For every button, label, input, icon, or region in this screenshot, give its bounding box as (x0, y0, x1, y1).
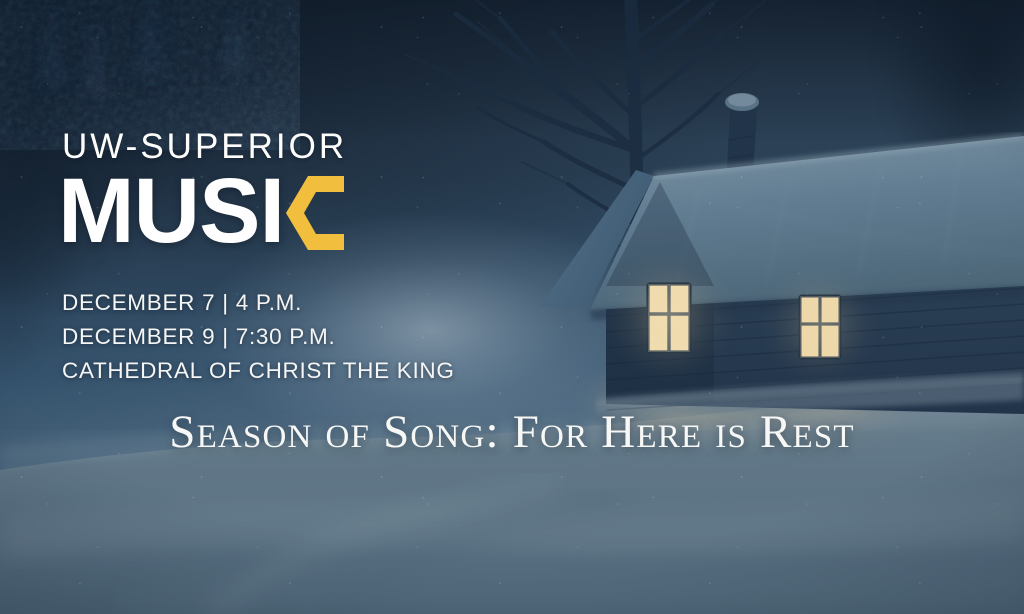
event-venue: CATHEDRAL OF CHRIST THE KING (62, 358, 455, 384)
brand-kicker: UW-SUPERIOR (62, 129, 347, 164)
event-date-line-1: DECEMBER 7 | 4 P.M. (62, 290, 302, 316)
poster-canvas: UW-SUPERIOR MUSI DECEMBER 7 | 4 P.M. DEC… (0, 0, 1024, 614)
music-wordmark: MUSI (58, 166, 346, 258)
event-date-line-2: DECEMBER 9 | 7:30 P.M. (62, 324, 335, 350)
event-title: Season of Song: For Here is Rest (0, 409, 1024, 456)
poster-text-block: UW-SUPERIOR MUSI DECEMBER 7 | 4 P.M. DEC… (0, 0, 1024, 614)
wordmark-text: MUSI (58, 168, 284, 255)
wordmark-accent-c-icon (286, 176, 346, 250)
